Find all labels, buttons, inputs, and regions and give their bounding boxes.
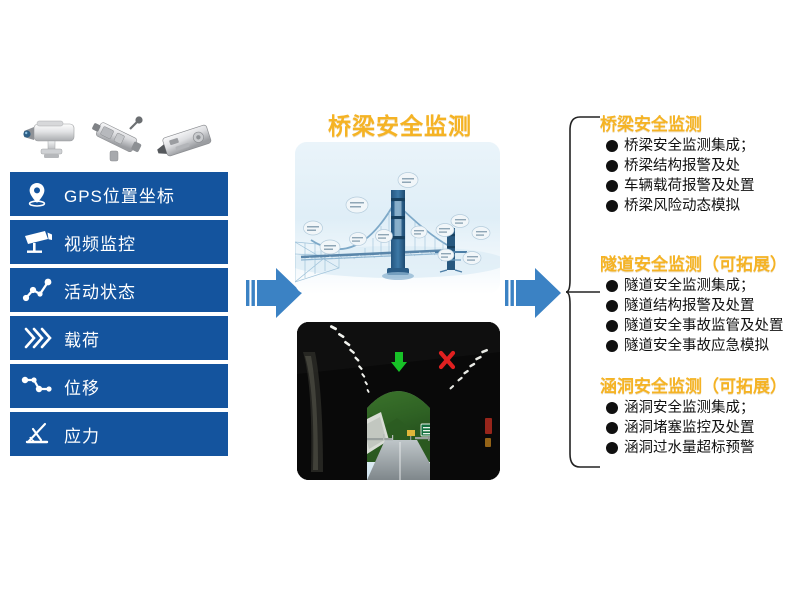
list-item-label: 隧道结构报警及处置 (624, 296, 755, 316)
list-item-label: 隧道安全事故应急模拟 (624, 336, 769, 356)
list-item-label: 涵洞过水量超标预警 (624, 438, 755, 458)
group-item-list: 隧道安全监测集成； 隧道结构报警及处置 隧道安全事故监管及处置 隧道安全事故应急… (600, 276, 800, 356)
sidebar-item-label: 应力 (64, 422, 100, 447)
group-item-list: 桥梁安全监测集成； 桥梁结构报警及处 车辆载荷报警及处置 桥梁风险动态模拟 (600, 136, 800, 216)
sidebar-item-gps[interactable]: GPS位置坐标 (10, 172, 228, 216)
sidebar-item-activity[interactable]: 活动状态 (10, 268, 228, 312)
sidebar-item-label: 视频监控 (64, 230, 136, 255)
displacement-nodes-icon (10, 364, 64, 408)
sidebar-item-label: 活动状态 (64, 278, 136, 303)
sidebar-item-load[interactable]: 载荷 (10, 316, 228, 360)
list-item-label: 车辆载荷报警及处置 (624, 176, 755, 196)
sensor-device-strip (14, 112, 214, 170)
group-title: 桥梁安全监测 (600, 110, 800, 135)
list-item-label: 隧道安全事故监管及处置 (624, 316, 784, 336)
list-item-label: 涵洞安全监测集成； (624, 398, 755, 418)
group-title: 涵洞安全监测（可拓展） (600, 372, 800, 397)
bullet-icon (606, 176, 621, 196)
list-item[interactable]: 涵洞安全监测集成； (606, 398, 800, 418)
load-chevrons-icon (10, 316, 64, 360)
bullet-icon (606, 196, 621, 216)
sidebar-item-stress[interactable]: 应力 (10, 412, 228, 456)
list-item[interactable]: 桥梁风险动态模拟 (606, 196, 800, 216)
sidebar-item-label: 载荷 (64, 326, 100, 351)
list-item-label: 桥梁安全监测集成； (624, 136, 755, 156)
stress-gauge-icon (10, 412, 64, 456)
grouping-brace (566, 114, 600, 470)
list-item[interactable]: 隧道结构报警及处置 (606, 296, 800, 316)
group-item-list: 涵洞安全监测集成； 涵洞堵塞监控及处置 涵洞过水量超标预警 (600, 398, 800, 458)
list-item-label: 桥梁结构报警及处 (624, 156, 740, 176)
video-camera-icon (10, 220, 64, 264)
list-item-label: 隧道安全监测集成； (624, 276, 755, 296)
bullet-icon (606, 418, 621, 438)
sidebar-item-label: 位移 (64, 374, 100, 399)
sidebar-item-label: GPS位置坐标 (64, 182, 175, 207)
bullet-icon (606, 156, 621, 176)
list-item[interactable]: 隧道安全事故监管及处置 (606, 316, 800, 336)
page-title: 桥梁安全监测 (300, 107, 500, 141)
bullet-icon (606, 136, 621, 156)
list-item[interactable]: 隧道安全监测集成； (606, 276, 800, 296)
flow-arrow-right (505, 262, 563, 324)
bullet-icon (606, 336, 621, 356)
monitoring-parameter-sidebar: GPS位置坐标 视频监控 活动状态 (10, 172, 228, 460)
list-item[interactable]: 涵洞过水量超标预警 (606, 438, 800, 458)
list-item[interactable]: 车辆载荷报警及处置 (606, 176, 800, 196)
activity-line-chart-icon (10, 268, 64, 312)
list-item[interactable]: 桥梁安全监测集成； (606, 136, 800, 156)
sidebar-item-video[interactable]: 视频监控 (10, 220, 228, 264)
inclinometer-sensor-device (88, 113, 150, 170)
list-item[interactable]: 隧道安全事故应急模拟 (606, 336, 800, 356)
culvert-safety-monitoring-group: 涵洞安全监测（可拓展） 涵洞安全监测集成； 涵洞堵塞监控及处置 涵洞过水量超标预… (600, 372, 800, 458)
bridge-illustration (295, 142, 500, 294)
sidebar-item-displacement[interactable]: 位移 (10, 364, 228, 408)
load-cell-sensor-device (154, 117, 220, 170)
tunnel-safety-monitoring-group: 隧道安全监测（可拓展） 隧道安全监测集成； 隧道结构报警及处置 隧道安全事故监管… (600, 250, 800, 356)
bridge-safety-monitoring-group: 桥梁安全监测 桥梁安全监测集成； 桥梁结构报警及处 车辆载荷报警及处置 桥梁风险… (600, 110, 800, 216)
bullet-icon (606, 438, 621, 458)
list-item[interactable]: 桥梁结构报警及处 (606, 156, 800, 176)
tunnel-photo (297, 322, 500, 480)
list-item-label: 桥梁风险动态模拟 (624, 196, 740, 216)
bullet-icon (606, 316, 621, 336)
group-title: 隧道安全监测（可拓展） (600, 250, 800, 275)
cctv-camera-device (20, 115, 88, 170)
bullet-icon (606, 398, 621, 418)
bullet-icon (606, 296, 621, 316)
list-item-label: 涵洞堵塞监控及处置 (624, 418, 755, 438)
list-item[interactable]: 涵洞堵塞监控及处置 (606, 418, 800, 438)
bullet-icon (606, 276, 621, 296)
location-pin-icon (10, 172, 64, 216)
